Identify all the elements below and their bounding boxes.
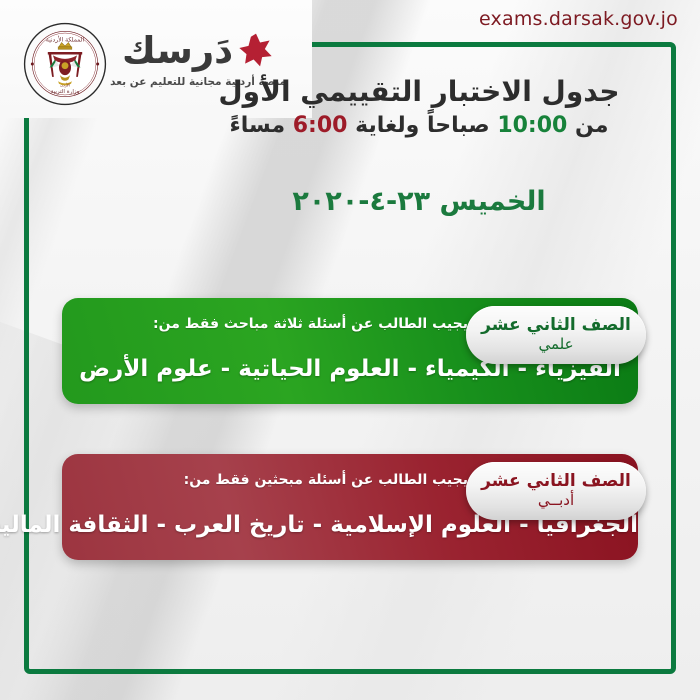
panel-note-literary: يجيب الطالب عن أسئلة مبحثين فقط من: <box>184 472 468 488</box>
grade-badge-title: الصف الثاني عشر <box>481 317 631 335</box>
exam-time-line: من 10:00 صباحاً ولغاية 6:00 مساءً <box>184 113 654 138</box>
page-title: جدول الاختبار التقييمي الأول <box>184 74 654 109</box>
svg-text:المملكة الأردنية: المملكة الأردنية <box>46 36 85 44</box>
svg-text:الأردن: الأردن <box>60 82 70 87</box>
seven-pointed-star-icon <box>239 33 273 67</box>
grade-badge-scientific: الصف الثاني عشر علمي <box>466 306 646 364</box>
exam-date: الخميس ٢٣-٤-٢٠٢٠ <box>184 186 654 217</box>
time-start: 10:00 <box>497 113 567 138</box>
announcement-poster: المملكة الأردنية وزارة التربية الأردن <box>0 0 700 700</box>
jordan-ministry-of-education-emblem: المملكة الأردنية وزارة التربية الأردن <box>22 20 108 108</box>
exams-website-url[interactable]: exams.darsak.gov.jo <box>479 8 678 30</box>
title-block: جدول الاختبار التقييمي الأول من 10:00 صب… <box>184 74 654 138</box>
panel-literary: يجيب الطالب عن أسئلة مبحثين فقط من: الجغ… <box>62 454 638 560</box>
time-middle: صباحاً ولغاية <box>355 113 490 138</box>
darsak-wordmark-row: دَرسك <box>122 26 286 74</box>
grade-badge-literary: الصف الثاني عشر أدبــي <box>466 462 646 520</box>
grade-badge-title: الصف الثاني عشر <box>481 473 631 491</box>
grade-badge-track: أدبــي <box>538 493 574 509</box>
svg-text:وزارة التربية: وزارة التربية <box>51 89 80 95</box>
darsak-wordmark: دَرسك <box>122 32 233 69</box>
time-end: 6:00 <box>293 113 348 138</box>
panel-note-scientific: يجيب الطالب عن أسئلة ثلاثة مباحث فقط من: <box>153 316 468 332</box>
panel-scientific: يجيب الطالب عن أسئلة ثلاثة مباحث فقط من:… <box>62 298 638 404</box>
grade-badge-track: علمي <box>538 337 573 353</box>
time-suffix: مساءً <box>230 113 286 138</box>
time-prefix: من <box>575 113 608 138</box>
